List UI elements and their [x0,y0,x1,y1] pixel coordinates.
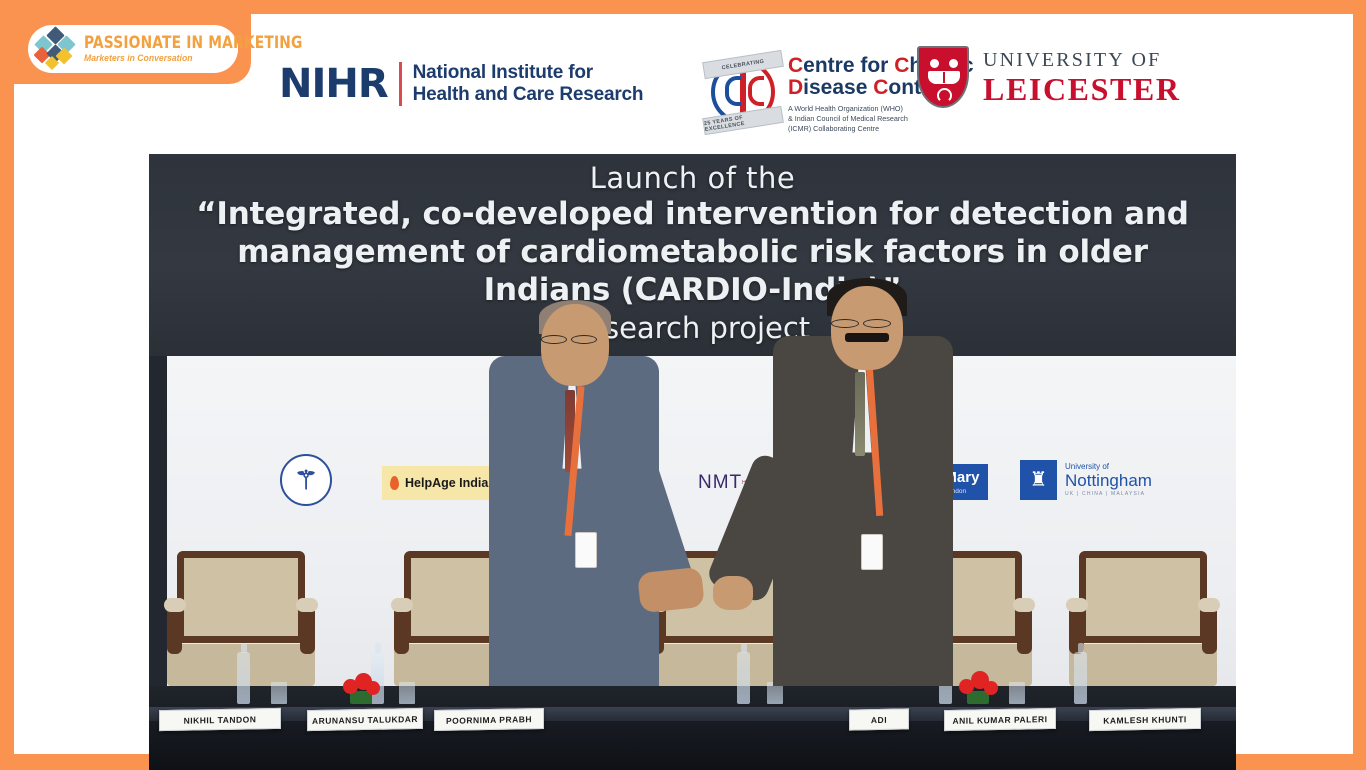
nihr-acronym: NIHR [279,64,388,104]
nottingham-logo: ♜ University of Nottingham UK | CHINA | … [1020,460,1152,500]
stage-chair [1069,551,1217,686]
ccdc-sub-line3: (ICMR) Collaborating Centre [788,124,974,134]
handshake [637,567,705,613]
site-logo-title: PASSIONATE IN MARKETING [84,35,303,52]
projection-screen-text: Launch of the “Integrated, co-developed … [149,154,1236,347]
stage-left-shadow [149,356,167,686]
person-left-handshake [479,236,689,686]
water-bottle [1074,652,1087,704]
aiims-glyph: ⚚ [294,467,317,493]
nameplate: ARUNANSU TALUKDAR [307,708,423,731]
drinking-glass [399,682,415,704]
screen-line-1: Launch of the [149,160,1236,196]
backdrop-partner-logos: ⚚ HelpAge India Fighting isolation, pove… [149,454,1236,510]
aiims-emblem-icon: ⚚ [280,454,332,506]
drinking-glass [1009,682,1025,704]
drinking-glass [271,682,287,704]
person-right-handshake [749,216,969,686]
nameplate: NIKHIL TANDON [159,708,281,731]
site-logo-tagline: Marketers in Conversation [84,54,310,63]
screen-line-3: management of cardiometabolic risk facto… [149,234,1236,272]
leicester-line2: LEICESTER [983,73,1181,105]
screen-line-2: “Integrated, co-developed intervention f… [149,196,1236,234]
nameplate: POORNIMA PRABH [434,708,544,731]
nihr-divider [399,62,402,106]
moustache [845,333,889,342]
nameplate: ANIL KUMAR PALERI [944,708,1056,731]
arrows-mosaic-icon [36,29,78,69]
white-content-card: PASSIONATE IN MARKETING Marketers in Con… [14,14,1353,754]
ccdc-sub-line2: & Indian Council of Medical Research [788,114,974,124]
leicester-line1: UNIVERSITY OF [983,50,1181,70]
nottingham-sub: UK | CHINA | MALAYSIA [1065,492,1152,497]
event-photograph: Launch of the “Integrated, co-developed … [149,154,1236,770]
shield-crest-icon [917,46,969,108]
page-root: PASSIONATE IN MARKETING Marketers in Con… [0,0,1366,768]
site-logo-badge[interactable]: PASSIONATE IN MARKETING Marketers in Con… [28,25,238,73]
flower-arrangement [337,668,385,704]
water-bottle [237,652,250,704]
nameplate: ADI [849,708,909,730]
nottingham-pre: University of [1065,463,1152,471]
nameplate: KAMLESH KHUNTI [1089,708,1201,731]
nihr-line2: Health and Care Research [413,84,644,106]
castle-icon: ♜ [1020,460,1057,500]
nottingham-label: Nottingham [1065,472,1152,489]
nihr-line1: National Institute for [413,62,644,84]
flame-icon [390,476,399,490]
screen-line-4: Indians (CARDIO-India)” [149,272,1236,310]
helpage-label: HelpAge India [405,476,488,490]
screen-line-5: research project [149,310,1236,348]
logo-nihr: NIHR National Institute for Health and C… [279,62,643,107]
nmt-label: NMT [698,473,742,492]
logo-university-of-leicester: UNIVERSITY OF LEICESTER [917,46,1181,108]
ccdc-emblem-icon: CELEBRATING 25 YEARS OF EXCELLENCE [704,42,782,142]
